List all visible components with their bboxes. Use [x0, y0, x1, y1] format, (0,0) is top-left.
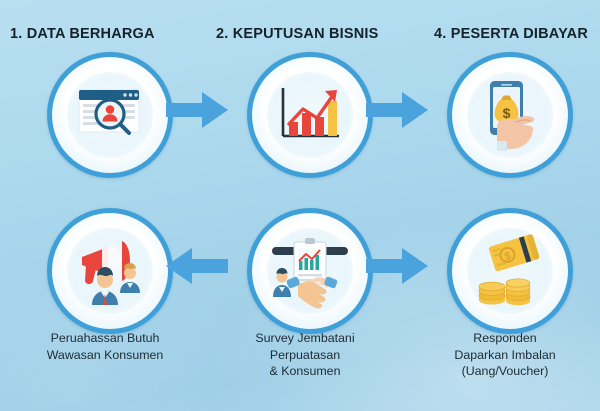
caption-survey: Survey Jembatani Perpuatasan & Konsumen	[215, 330, 395, 380]
node-peserta-dibayar[interactable]: $	[447, 52, 573, 178]
arrow-bottom-left	[166, 248, 228, 289]
heading-step-2: 2. KEPUTUSAN BISNIS	[216, 26, 379, 42]
node-inner: $	[467, 72, 553, 158]
caption-responden: Responden Daparkan Imbalan (Uang/Voucher…	[415, 330, 595, 380]
node-inner: $	[467, 228, 553, 314]
infographic-canvas: 1. DATA BERHARGA 2. KEPUTUSAN BISNIS 4. …	[0, 0, 600, 411]
node-data-berharga[interactable]	[47, 52, 173, 178]
arrow-top-2	[366, 92, 428, 133]
node-inner	[267, 228, 353, 314]
svg-text:$: $	[503, 105, 511, 121]
heading-step-1: 1. DATA BERHARGA	[10, 26, 155, 42]
voucher-coins-icon: $	[470, 234, 550, 308]
node-inner	[267, 72, 353, 158]
megaphone-people-icon	[70, 235, 150, 307]
bar-chart-growth-icon	[273, 82, 347, 148]
clipboard-handshake-icon	[268, 233, 352, 309]
heading-step-4: 4. PESERTA DIBAYAR	[434, 26, 588, 42]
node-survey-jembatani[interactable]	[247, 208, 373, 334]
node-inner	[67, 72, 153, 158]
node-perusahaan-butuh-wawasan[interactable]	[47, 208, 173, 334]
arrow-bottom-right	[366, 248, 428, 289]
caption-perusahaan: Peruahassan Butuh Wawasan Konsumen	[15, 330, 195, 363]
node-inner	[67, 228, 153, 314]
hand-phone-money-icon: $	[475, 77, 545, 153]
node-responden-imbalan[interactable]: $	[447, 208, 573, 334]
arrow-top-1	[166, 92, 228, 133]
browser-search-person-icon	[71, 80, 149, 150]
node-keputusan-bisnis[interactable]	[247, 52, 373, 178]
